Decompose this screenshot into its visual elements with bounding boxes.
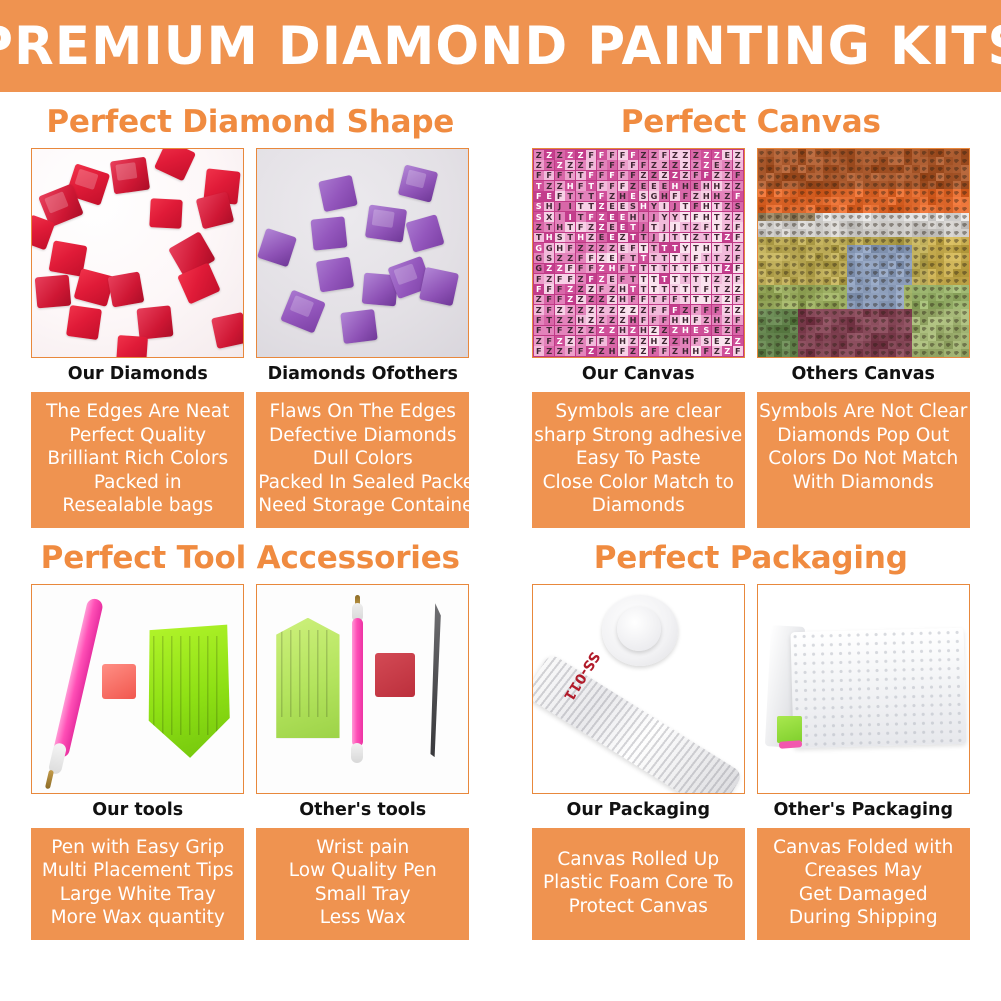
canvas-blurred-cell — [879, 285, 887, 293]
canvas-blurred-cell — [823, 349, 831, 357]
canvas-blurred-cell — [928, 293, 936, 301]
canvas-symbol-cell: F — [733, 264, 743, 274]
canvas-symbol-cell: Z — [680, 171, 690, 181]
canvas-symbol-cell: F — [649, 346, 659, 356]
canvas-blurred-cell — [823, 237, 831, 245]
canvas-symbol-cell: Z — [597, 274, 607, 284]
canvas-blurred-cell — [847, 349, 855, 357]
canvas-blurred-cell — [798, 229, 806, 237]
canvas-blurred-cell — [774, 253, 782, 261]
canvas-symbol-cell: T — [659, 284, 669, 294]
canvas-blurred-cell — [798, 189, 806, 197]
our-diamonds-photo — [31, 148, 244, 358]
canvas-symbol-cell: Z — [639, 171, 649, 181]
canvas-blurred-cell — [871, 269, 879, 277]
feature-line: The Edges Are Neat — [33, 400, 242, 424]
canvas-blurred-cell — [936, 325, 944, 333]
feature-line: Perfect Quality — [33, 424, 242, 448]
canvas-blurred-cell — [774, 157, 782, 165]
canvas-blurred-cell — [961, 277, 969, 285]
canvas-symbol-cell: F — [691, 171, 701, 181]
canvas-symbol-cell: Z — [670, 171, 680, 181]
canvas-symbol-cell: T — [670, 284, 680, 294]
canvas-blurred-cell — [758, 269, 766, 277]
canvas-blurred-cell — [863, 277, 871, 285]
canvas-blurred-cell — [823, 277, 831, 285]
feature-line: Protect Canvas — [534, 895, 743, 919]
canvas-blurred-cell — [847, 285, 855, 293]
canvas-blurred-cell — [806, 349, 814, 357]
canvas-symbol-cell: F — [649, 305, 659, 315]
canvas-symbol-cell: Z — [576, 160, 586, 170]
feature-line: More Wax quantity — [33, 906, 242, 930]
canvas-blurred-cell — [790, 269, 798, 277]
feature-band-others: Symbols Are Not Clear Diamonds Pop Out C… — [757, 392, 970, 528]
canvas-blurred-cell — [944, 277, 952, 285]
canvas-blurred-cell — [871, 245, 879, 253]
canvas-symbol-cell: H — [565, 181, 575, 191]
canvas-blurred-cell — [839, 237, 847, 245]
canvas-blurred-cell — [815, 253, 823, 261]
canvas-symbol-cell: F — [618, 253, 628, 263]
canvas-blurred-cell — [879, 157, 887, 165]
canvas-blurred-cell — [855, 325, 863, 333]
canvas-blurred-cell — [831, 205, 839, 213]
canvas-blurred-cell — [839, 301, 847, 309]
canvas-blurred-cell — [871, 237, 879, 245]
canvas-symbol-cell: F — [555, 274, 565, 284]
canvas-blurred-cell — [936, 309, 944, 317]
canvas-blurred-cell — [831, 317, 839, 325]
canvas-blurred-cell — [961, 173, 969, 181]
pen-icon — [352, 618, 363, 747]
feature-line: Flaws On The Edges — [258, 400, 467, 424]
canvas-blurred-cell — [839, 245, 847, 253]
canvas-blurred-cell — [815, 205, 823, 213]
canvas-symbol-cell: I — [565, 202, 575, 212]
canvas-blurred-cell — [944, 285, 952, 293]
canvas-symbol-cell: F — [628, 171, 638, 181]
canvas-blurred-cell — [798, 341, 806, 349]
canvas-symbol-cell: Z — [733, 181, 743, 191]
canvas-blurred-cell — [790, 301, 798, 309]
canvas-symbol-cell: T — [680, 284, 690, 294]
canvas-symbol-cell: F — [607, 160, 617, 170]
canvas-blurred-cell — [774, 229, 782, 237]
canvas-blurred-cell — [888, 293, 896, 301]
canvas-blurred-cell — [912, 261, 920, 269]
canvas-symbol-cell: Z — [555, 150, 565, 160]
canvas-blurred-cell — [815, 333, 823, 341]
canvas-blurred-cell — [839, 261, 847, 269]
canvas-symbol-cell: E — [544, 191, 554, 201]
canvas-blurred-cell — [847, 341, 855, 349]
others-diamonds-photo — [256, 148, 469, 358]
canvas-blurred-cell — [758, 301, 766, 309]
canvas-blurred-cell — [815, 229, 823, 237]
canvas-blurred-cell — [888, 317, 896, 325]
canvas-blurred-cell — [912, 293, 920, 301]
image-pair: ZZZZZFFFFFZZFZZZZZEZZZZZZFFFFFFZZZZZZEZZ… — [501, 148, 1001, 358]
canvas-symbol-cell: Z — [722, 222, 732, 232]
canvas-blurred-cell — [912, 189, 920, 197]
canvas-blurred-cell — [774, 325, 782, 333]
canvas-blurred-cell — [855, 277, 863, 285]
canvas-blurred-cell — [823, 221, 831, 229]
canvas-symbol-cell: Z — [565, 305, 575, 315]
canvas-symbol-cell: F — [555, 171, 565, 181]
canvas-blurred-cell — [879, 309, 887, 317]
others-packaging-photo — [757, 584, 970, 794]
canvas-blurred-cell — [920, 325, 928, 333]
canvas-symbol-cell: Z — [722, 181, 732, 191]
canvas-blurred-cell — [928, 213, 936, 221]
canvas-symbol-cell: T — [712, 243, 722, 253]
canvas-blurred-cell — [888, 213, 896, 221]
canvas-blurred-cell — [831, 165, 839, 173]
canvas-blurred-cell — [888, 285, 896, 293]
canvas-symbol-cell: E — [607, 212, 617, 222]
canvas-blurred-cell — [847, 165, 855, 173]
canvas-blurred-cell — [758, 341, 766, 349]
canvas-blurred-cell — [912, 213, 920, 221]
canvas-symbol-cell: Z — [691, 150, 701, 160]
canvas-blurred-cell — [953, 317, 961, 325]
canvas-blurred-cell — [953, 285, 961, 293]
canvas-symbol-cell: T — [565, 191, 575, 201]
canvas-blurred-cell — [888, 197, 896, 205]
canvas-blurred-cell — [790, 293, 798, 301]
canvas-blurred-cell — [831, 157, 839, 165]
canvas-blurred-cell — [766, 341, 774, 349]
section-row-1: Perfect Diamond Shape — [0, 92, 1001, 528]
canvas-blurred-cell — [806, 317, 814, 325]
canvas-symbol-cell: T — [712, 253, 722, 263]
canvas-symbol-cell: Z — [639, 305, 649, 315]
canvas-symbol-cell: S — [534, 212, 544, 222]
canvas-blurred-cell — [871, 173, 879, 181]
canvas-blurred-cell — [831, 349, 839, 357]
canvas-blurred-cell — [790, 341, 798, 349]
canvas-blurred-cell — [896, 325, 904, 333]
image-labels: Our Diamonds Diamonds Ofothers — [0, 364, 501, 384]
canvas-blurred-cell — [831, 149, 839, 157]
feature-bands: Symbols are clear sharp Strong adhesive … — [501, 392, 1001, 528]
canvas-symbol-cell: T — [659, 253, 669, 263]
canvas-symbol-cell: F — [586, 274, 596, 284]
canvas-blurred-cell — [920, 173, 928, 181]
canvas-symbol-cell: F — [701, 346, 711, 356]
canvas-blurred-cell — [871, 157, 879, 165]
feature-bands: The Edges Are Neat Perfect Quality Brill… — [0, 392, 501, 528]
canvas-symbol-cell: E — [618, 202, 628, 212]
canvas-blurred-cell — [806, 301, 814, 309]
canvas-blurred-cell — [774, 181, 782, 189]
canvas-blurred-cell — [806, 157, 814, 165]
canvas-blurred-cell — [758, 165, 766, 173]
canvas-symbol-cell: Y — [680, 243, 690, 253]
canvas-blurred-cell — [896, 293, 904, 301]
canvas-symbol-cell: Z — [733, 284, 743, 294]
canvas-blurred-cell — [766, 317, 774, 325]
canvas-blurred-cell — [888, 261, 896, 269]
canvas-blurred-cell — [766, 253, 774, 261]
canvas-blurred-cell — [863, 309, 871, 317]
canvas-blurred-cell — [798, 301, 806, 309]
canvas-blurred-cell — [920, 205, 928, 213]
canvas-blurred-cell — [896, 213, 904, 221]
canvas-symbol-cell: F — [691, 253, 701, 263]
image-label: Diamonds Ofothers — [256, 364, 469, 384]
canvas-symbol-cell: Z — [565, 253, 575, 263]
canvas-blurred-cell — [920, 285, 928, 293]
canvas-symbol-cell: G — [649, 191, 659, 201]
canvas-blurred-cell — [936, 261, 944, 269]
canvas-symbol-cell: F — [733, 295, 743, 305]
image-label: Others Canvas — [757, 364, 970, 384]
canvas-blurred-cell — [888, 181, 896, 189]
canvas-symbol-cell: F — [618, 171, 628, 181]
canvas-blurred-cell — [961, 205, 969, 213]
canvas-blurred-cell — [871, 197, 879, 205]
canvas-blurred-cell — [920, 261, 928, 269]
canvas-blurred-cell — [831, 309, 839, 317]
canvas-symbol-cell: H — [618, 191, 628, 201]
canvas-symbol-cell: Y — [649, 202, 659, 212]
canvas-blurred-cell — [953, 181, 961, 189]
canvas-blurred-cell — [863, 157, 871, 165]
canvas-blurred-cell — [871, 221, 879, 229]
canvas-blurred-cell — [790, 181, 798, 189]
canvas-blurred-cell — [782, 157, 790, 165]
canvas-blurred-cell — [863, 269, 871, 277]
canvas-blurred-cell — [782, 309, 790, 317]
canvas-symbol-cell: F — [544, 336, 554, 346]
canvas-blurred-cell — [928, 165, 936, 173]
canvas-blurred-cell — [758, 333, 766, 341]
canvas-symbol-cell: F — [701, 305, 711, 315]
canvas-blurred-cell — [936, 253, 944, 261]
canvas-symbol-cell: H — [544, 202, 554, 212]
canvas-symbol-cell: H — [607, 346, 617, 356]
canvas-symbol-cell: F — [576, 346, 586, 356]
canvas-symbol-cell: Z — [597, 222, 607, 232]
canvas-blurred-cell — [823, 301, 831, 309]
canvas-symbol-cell: X — [544, 212, 554, 222]
canvas-blurred-cell — [766, 197, 774, 205]
canvas-blurred-cell — [912, 325, 920, 333]
canvas-blurred-cell — [766, 261, 774, 269]
feature-line: Wrist pain — [258, 836, 467, 860]
canvas-symbol-cell: F — [586, 150, 596, 160]
canvas-symbol-cell: T — [628, 274, 638, 284]
canvas-blurred-cell — [879, 269, 887, 277]
canvas-blurred-cell — [806, 277, 814, 285]
canvas-blurred-cell — [790, 197, 798, 205]
canvas-blurred-cell — [815, 237, 823, 245]
canvas-symbol-cell: T — [565, 233, 575, 243]
canvas-symbol-cell: F — [618, 274, 628, 284]
canvas-blurred-cell — [944, 309, 952, 317]
canvas-blurred-cell — [798, 309, 806, 317]
canvas-symbol-cell: Z — [555, 315, 565, 325]
canvas-blurred-cell — [774, 165, 782, 173]
canvas-blurred-cell — [863, 317, 871, 325]
canvas-blurred-cell — [782, 341, 790, 349]
canvas-blurred-cell — [920, 245, 928, 253]
canvas-blurred-cell — [815, 269, 823, 277]
canvas-symbol-cell: F — [691, 336, 701, 346]
canvas-symbol-cell: T — [649, 295, 659, 305]
canvas-blurred-cell — [879, 293, 887, 301]
canvas-symbol-cell: F — [733, 191, 743, 201]
canvas-symbol-cell: S — [628, 202, 638, 212]
canvas-blurred-cell — [879, 205, 887, 213]
feature-line: Low Quality Pen — [258, 859, 467, 883]
canvas-symbol-cell: Z — [618, 233, 628, 243]
canvas-blurred-cell — [896, 197, 904, 205]
canvas-symbol-cell: Z — [576, 336, 586, 346]
canvas-blurred-cell — [774, 173, 782, 181]
canvas-blurred-cell — [936, 301, 944, 309]
canvas-blurred-cell — [831, 229, 839, 237]
canvas-symbol-cell: S — [544, 253, 554, 263]
canvas-blurred-cell — [863, 245, 871, 253]
canvas-blurred-cell — [920, 277, 928, 285]
canvas-blurred-cell — [758, 317, 766, 325]
canvas-blurred-cell — [944, 165, 952, 173]
canvas-blurred-cell — [879, 277, 887, 285]
canvas-blurred-cell — [944, 349, 952, 357]
canvas-symbol-cell: F — [555, 284, 565, 294]
canvas-blurred-cell — [855, 181, 863, 189]
canvas-blurred-cell — [920, 309, 928, 317]
canvas-symbol-cell: F — [597, 336, 607, 346]
canvas-blurred-cell — [871, 301, 879, 309]
canvas-blurred-cell — [847, 261, 855, 269]
canvas-symbol-cell: F — [586, 212, 596, 222]
feature-line: Packed In Sealed Packets — [258, 471, 467, 495]
canvas-blurred-cell — [847, 277, 855, 285]
canvas-blurred-cell — [961, 157, 969, 165]
canvas-blurred-cell — [758, 309, 766, 317]
canvas-blurred-cell — [774, 149, 782, 157]
canvas-blurred-cell — [953, 205, 961, 213]
canvas-blurred-cell — [823, 261, 831, 269]
canvas-blurred-cell — [806, 229, 814, 237]
canvas-blurred-cell — [806, 205, 814, 213]
canvas-blurred-cell — [782, 245, 790, 253]
canvas-symbol-cell: Z — [618, 315, 628, 325]
canvas-blurred-cell — [888, 149, 896, 157]
canvas-symbol-cell: Z — [733, 212, 743, 222]
image-label: Our Diamonds — [31, 364, 244, 384]
canvas-blurred-cell — [782, 269, 790, 277]
feature-line: Colors Do Not Match — [759, 447, 968, 471]
infographic-page: PREMIUM DIAMOND PAINTING KITS Perfect Di… — [0, 0, 1001, 1001]
canvas-symbol-cell: E — [618, 222, 628, 232]
canvas-blurred-cell — [904, 277, 912, 285]
canvas-symbol-cell: Z — [565, 150, 575, 160]
canvas-blurred-cell — [936, 237, 944, 245]
canvas-symbol-cell: J — [659, 222, 669, 232]
canvas-blurred-cell — [888, 309, 896, 317]
canvas-symbol-cell: Z — [534, 160, 544, 170]
canvas-blurred-cell — [944, 213, 952, 221]
canvas-blurred-cell — [944, 261, 952, 269]
canvas-blurred-cell — [871, 261, 879, 269]
canvas-blurred-cell — [758, 197, 766, 205]
canvas-blurred-cell — [896, 341, 904, 349]
canvas-blurred-cell — [904, 285, 912, 293]
canvas-blurred-cell — [953, 149, 961, 157]
canvas-blurred-cell — [758, 205, 766, 213]
canvas-blurred-cell — [896, 221, 904, 229]
canvas-blurred-cell — [961, 349, 969, 357]
section-title: Perfect Diamond Shape — [0, 92, 501, 148]
canvas-blurred-cell — [953, 277, 961, 285]
canvas-blurred-cell — [928, 237, 936, 245]
canvas-symbol-cell: Z — [733, 160, 743, 170]
canvas-blurred-cell — [782, 221, 790, 229]
canvas-symbol-cell: T — [534, 181, 544, 191]
canvas-symbol-cell: H — [555, 243, 565, 253]
canvas-blurred-cell — [855, 165, 863, 173]
canvas-blurred-cell — [847, 197, 855, 205]
canvas-symbol-cell: Z — [712, 274, 722, 284]
canvas-symbol-cell: F — [670, 295, 680, 305]
canvas-symbol-cell: T — [680, 202, 690, 212]
canvas-symbol-cell: Z — [607, 315, 617, 325]
canvas-symbol-cell: T — [544, 315, 554, 325]
canvas-symbol-cell: T — [639, 253, 649, 263]
canvas-blurred-cell — [904, 189, 912, 197]
canvas-blurred-cell — [774, 317, 782, 325]
canvas-blurred-cell — [961, 253, 969, 261]
canvas-blurred-cell — [806, 165, 814, 173]
canvas-blurred-cell — [912, 221, 920, 229]
canvas-blurred-cell — [879, 325, 887, 333]
canvas-blurred-cell — [774, 197, 782, 205]
canvas-symbol-cell: Z — [565, 284, 575, 294]
canvas-symbol-cell: J — [670, 202, 680, 212]
canvas-symbol-cell: T — [639, 284, 649, 294]
canvas-blurred-cell — [758, 261, 766, 269]
canvas-symbol-cell: Z — [607, 243, 617, 253]
canvas-blurred-cell — [896, 269, 904, 277]
canvas-symbol-cell: Z — [544, 264, 554, 274]
canvas-blurred-cell — [920, 349, 928, 357]
canvas-blurred-cell — [920, 237, 928, 245]
canvas-symbol-cell: F — [534, 274, 544, 284]
canvas-symbol-cell: T — [680, 264, 690, 274]
canvas-symbol-cell: T — [670, 253, 680, 263]
canvas-blurred-cell — [896, 229, 904, 237]
canvas-blurred-cell — [839, 165, 847, 173]
canvas-symbol-cell: Z — [680, 160, 690, 170]
canvas-blurred-cell — [920, 229, 928, 237]
canvas-symbol-cell: Z — [722, 346, 732, 356]
canvas-blurred-cell — [871, 349, 879, 357]
canvas-symbol-cell: Z — [701, 150, 711, 160]
canvas-blurred-cell — [782, 237, 790, 245]
canvas-blurred-cell — [798, 285, 806, 293]
image-labels: Our tools Other's tools — [0, 800, 501, 820]
canvas-symbol-cell: S — [534, 202, 544, 212]
canvas-blurred-cell — [863, 325, 871, 333]
canvas-blurred-cell — [806, 237, 814, 245]
canvas-blurred-cell — [766, 269, 774, 277]
